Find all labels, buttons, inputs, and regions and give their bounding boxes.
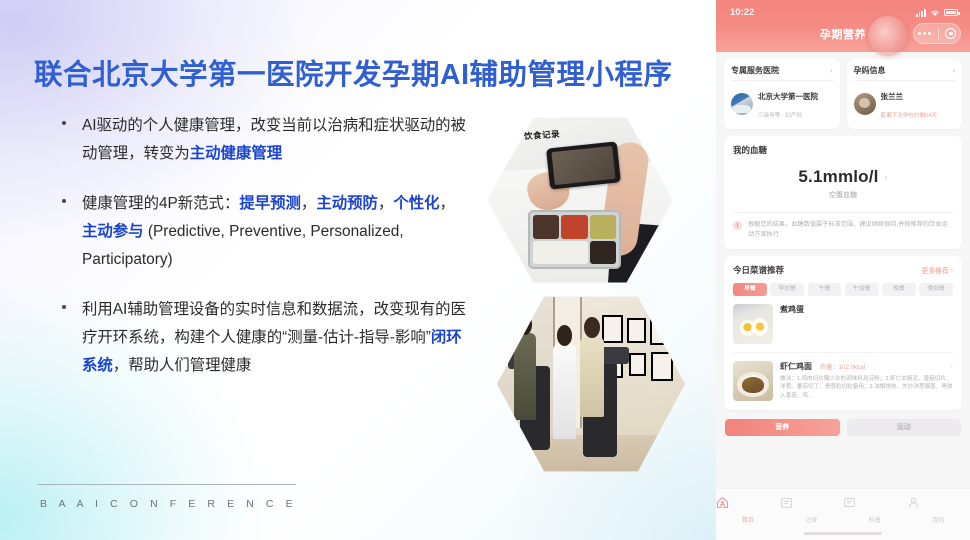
chevron-right-icon[interactable]: › [952,67,955,75]
boiled-egg-name: 煮鸡蛋 [780,304,804,315]
mother-card-body: 张兰兰 距离下次孕检约剩04天 [854,81,956,122]
hospital-card-header: 专属服务医院 › [731,65,833,81]
meal-tab-lunch[interactable]: 午餐 [808,283,842,296]
tab-article[interactable]: 科普 [843,496,907,527]
photo-exercise-room [497,293,685,475]
signal-bars-icon [916,9,926,17]
hospital-card[interactable]: 专属服务医院 › 北京大学第一医院 三级甲等 · 妇产科 [724,59,840,129]
bullet-2-seg-1: 提早预测 [239,195,301,212]
meal-tab-evening-snack[interactable]: 晚加餐 [919,283,953,296]
wifi-icon [930,9,940,17]
switch-nutrition-button[interactable]: 营养 [725,419,840,436]
bullet-2-seg-2: ， [301,195,316,212]
status-icons [916,9,958,17]
nutrition-exercise-switch: 营养 运动 [716,410,970,436]
bullet-3-seg-2: ，帮助人们管理健康 [113,357,252,374]
mother-card-title: 孕妈信息 [854,65,886,76]
bullet-2-seg-6: ， [440,195,455,212]
blood-sugar-main[interactable]: 5.1mmlo/l› 空腹血糖 [733,156,953,203]
bullet-item-1: AI驱动的个人健康管理，改变当前以治病和症状驱动的被动管理，转变为主动健康管理 [56,112,466,168]
bullet-item-2: 健康管理的4P新范式：提早预测，主动预防，个性化，主动参与 (Predictiv… [56,190,466,274]
shrimp-noodle-name: 虾仁鸡面 [780,361,812,372]
tab-home-label: 首页 [742,518,754,524]
info-icon: i [733,221,742,230]
phone-body: 专属服务医院 › 北京大学第一医院 三级甲等 · 妇产科 孕妈信息 › [716,52,970,436]
bullet-dot-icon [62,121,66,125]
dish-item-boiled-egg[interactable]: 煮鸡蛋 [733,296,953,344]
chevron-right-icon[interactable]: › [885,172,888,182]
bottom-tab-bar: 首页 记录 科普 我的 [716,488,970,540]
footer-divider [38,484,296,485]
meal-tab-dinner[interactable]: 晚餐 [882,283,916,296]
bullet-item-3: 利用AI辅助管理设备的实时信息和数据流，改变现有的医疗开环系统，构建个人健康的“… [56,296,466,380]
battery-icon [944,9,958,17]
bullet-dot-icon [62,305,66,309]
mini-program-nav: 孕期营养 [716,20,970,50]
user-avatar [854,93,876,115]
blood-sugar-title: 我的血糖 [733,144,953,156]
capsule-divider [938,28,939,40]
bullet-3-seg-0: 利用AI辅助管理设备的实时信息和数据流，改变现有的医疗开环系统，构建个人健康的“… [82,301,466,346]
tab-record[interactable]: 记录 [780,496,844,527]
diet-photo-phone [546,141,621,189]
switch-exercise-button[interactable]: 运动 [847,419,962,436]
boiled-egg-row: 煮鸡蛋 [780,304,953,315]
avatar[interactable] [868,16,908,56]
shrimp-noodle-row: 虾仁鸡面 热量：102.0kcal › [780,361,953,372]
bullet-1-seg-1: 主动健康管理 [190,145,282,162]
blood-sugar-divider [733,212,953,213]
home-indicator [804,532,882,535]
blood-sugar-tip: i 根据您的结果，血糖数值属于标准范围，建议继续保持,并按推荐的饮食运动方案执行 [733,220,953,240]
shrimp-noodle-photo [733,361,773,401]
article-icon [843,496,907,509]
hospital-name: 北京大学第一医院 [758,92,818,101]
blood-sugar-label: 空腹血糖 [733,190,953,200]
menu-header: 今日菜谱推荐 更多推荐 › [733,264,953,276]
mother-card-header: 孕妈信息 › [854,65,956,81]
menu-title: 今日菜谱推荐 [733,264,784,276]
boiled-egg-photo [733,304,773,344]
more-recommend-label: 更多推荐 [922,265,949,275]
chevron-right-icon: › [951,267,953,274]
bullet-2-seg-5: 个性化 [393,195,439,212]
shrimp-noodle-calories: 热量：102.0kcal [820,362,865,371]
exercise-photo-nurse [553,344,576,439]
shrimp-noodle-info: 虾仁鸡面 热量：102.0kcal › 做法：1.鸡肉切片腌少许的调味料及淀粉；… [780,361,953,401]
footer-brand: B A A I C O N F E R E N C E [40,498,297,510]
bullet-2-seg-7: 主动参与 [82,223,144,240]
bullet-2-seg-0: 健康管理的4P新范式： [82,195,239,212]
photo-diet-record: 饮食记录 [487,114,673,286]
mini-program-screenshot: 10:22 孕期营养 [716,0,970,540]
status-bar: 10:22 [716,0,970,20]
blood-sugar-card: 我的血糖 5.1mmlo/l› 空腹血糖 i 根据您的结果，血糖数值属于标准范围… [724,136,962,249]
diet-photo-meal-tray [528,210,621,268]
chevron-right-icon[interactable]: › [830,67,833,75]
top-card-row: 专属服务医院 › 北京大学第一医院 三级甲等 · 妇产科 孕妈信息 › [716,52,970,129]
exercise-photo-person-2 [580,337,604,417]
phone-header: 10:22 孕期营养 [716,0,970,52]
meal-tab-afternoon-snack[interactable]: 午加餐 [845,283,879,296]
more-dots-icon[interactable] [918,32,931,35]
home-icon [716,496,780,509]
tab-profile[interactable]: 我的 [907,496,970,527]
shrimp-noodle-desc: 做法：1.鸡肉切片腌少许的调味料及淀粉；2.虾仁去肠泥、香菇切片、洋葱、番茄切丁… [780,375,953,401]
boiled-egg-info: 煮鸡蛋 [780,304,953,344]
tab-home[interactable]: 首页 [716,496,780,527]
hospital-info: 北京大学第一医院 三级甲等 · 妇产科 [758,86,833,122]
tab-record-label: 记录 [805,518,817,524]
record-icon [780,496,844,509]
tab-profile-label: 我的 [932,518,944,524]
bullet-text-2: 健康管理的4P新范式：提早预测，主动预防，个性化，主动参与 (Predictiv… [82,190,466,274]
status-time: 10:22 [730,7,754,18]
bullet-text-3: 利用AI辅助管理设备的实时信息和数据流，改变现有的医疗开环系统，构建个人健康的“… [82,296,466,380]
mother-info: 张兰兰 距离下次孕检约剩04天 [881,86,956,122]
mother-card[interactable]: 孕妈信息 › 张兰兰 距离下次孕检约剩04天 [847,59,963,129]
hospital-card-title: 专属服务医院 [731,65,779,76]
exercise-photo-person-1 [514,333,537,420]
meal-tab-breakfast[interactable]: 早餐 [733,283,767,296]
bullet-text-1: AI驱动的个人健康管理，改变当前以治病和症状驱动的被动管理，转变为主动健康管理 [82,112,466,168]
hospital-sub: 三级甲等 · 妇产科 [758,113,802,119]
tab-article-label: 科普 [869,518,881,524]
mother-name: 张兰兰 [881,92,904,101]
presentation-slide: 联合北京大学第一医院开发孕期AI辅助管理小程序 AI驱动的个人健康管理，改变当前… [0,0,716,540]
chevron-right-icon[interactable]: › [951,363,953,370]
meal-tab-group: 早餐 早加餐 午餐 午加餐 晚餐 晚加餐 [733,283,953,296]
person-icon [907,496,970,509]
meal-tab-morning-snack[interactable]: 早加餐 [770,283,804,296]
dish-item-shrimp-noodle[interactable]: 虾仁鸡面 热量：102.0kcal › 做法：1.鸡肉切片腌少许的调味料及淀粉；… [733,352,953,401]
bullet-2-seg-4: ， [378,195,393,212]
hospital-avatar [731,93,753,115]
blood-sugar-value: 5.1mmlo/l [798,167,878,187]
slide-title: 联合北京大学第一医院开发孕期AI辅助管理小程序 [34,52,673,93]
bullet-2-seg-3: 主动预防 [316,195,378,212]
capsule-menu[interactable] [913,23,961,44]
bullet-list: AI驱动的个人健康管理，改变当前以治病和症状驱动的被动管理，转变为主动健康管理 … [56,112,466,402]
more-recommend-button[interactable]: 更多推荐 › [922,265,953,275]
bullet-dot-icon [62,199,66,203]
menu-recommend-card: 今日菜谱推荐 更多推荐 › 早餐 早加餐 午餐 午加餐 晚餐 晚加餐 煮鸡蛋 [724,256,962,410]
hospital-card-body: 北京大学第一医院 三级甲等 · 妇产科 [731,81,833,122]
mother-sub: 距离下次孕检约剩04天 [881,113,938,119]
blood-sugar-tip-text: 根据您的结果，血糖数值属于标准范围，建议继续保持,并按推荐的饮食运动方案执行 [748,220,953,240]
target-icon[interactable] [945,28,956,39]
